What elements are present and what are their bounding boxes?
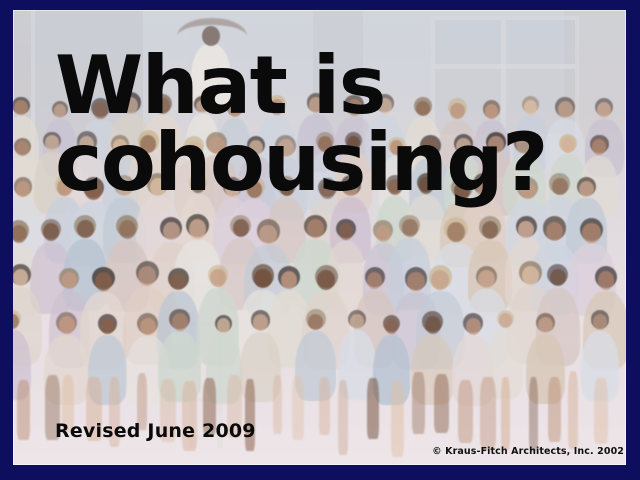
crowd-person-head — [254, 269, 271, 288]
crowd-person-head — [550, 269, 566, 287]
crowd-person-head — [209, 137, 225, 155]
crowd-person-head — [119, 220, 136, 239]
crowd-person-head — [278, 139, 294, 157]
crowd-person-legs — [501, 377, 510, 450]
crowd-person-head — [582, 223, 600, 243]
crowd-person-head — [339, 223, 354, 239]
crowd-person-head — [425, 316, 441, 334]
crowd-person-legs — [412, 372, 425, 434]
person-on-ladder-head — [202, 26, 220, 46]
crowd-person-head — [593, 314, 607, 330]
crowd-person-head — [13, 225, 27, 243]
crowd-person-head — [388, 179, 402, 195]
crowd-person-head — [156, 98, 171, 114]
crowd-person-head — [150, 178, 166, 196]
crowd-person-head — [45, 135, 59, 150]
crowd-person-head — [466, 318, 481, 335]
crowd-person-head — [385, 319, 399, 334]
title-photograph — [13, 10, 626, 465]
crowd-person-head — [347, 99, 362, 116]
crowd-person-legs — [548, 377, 561, 441]
crowd-person-legs — [319, 377, 329, 435]
crowd-person-head — [318, 136, 332, 152]
crowd-person-head — [270, 99, 284, 115]
crowd-person-head — [253, 314, 268, 331]
crowd-person-head — [456, 138, 470, 154]
crowd-person-legs — [338, 380, 349, 455]
crowd-person-head — [450, 103, 465, 119]
crowd-person-head — [376, 225, 391, 242]
crowd-person-head — [597, 102, 611, 118]
crowd-person-head — [558, 101, 573, 118]
copyright-credit: © Kraus-Fitch Architects, Inc. 2002 — [432, 446, 624, 457]
crowd-person-head — [561, 137, 575, 152]
crowd-person-head — [416, 101, 430, 116]
presentation-slide: What is cohousing? Revised June 2009 © K… — [0, 0, 640, 480]
crowd-person-head — [478, 270, 494, 288]
crowd-person-legs — [17, 380, 29, 440]
crowd-person-head — [57, 179, 72, 196]
crowd-person-head — [520, 182, 536, 200]
crowd-person-legs — [568, 371, 578, 448]
crowd-person-head — [378, 98, 392, 114]
crowd-person-head — [320, 182, 335, 199]
crowd-person-legs — [434, 374, 450, 433]
crowd-person-head — [598, 271, 615, 290]
crowd-person-head — [454, 182, 470, 200]
crowd-person-head — [14, 100, 28, 115]
crowd-person-legs — [458, 380, 473, 443]
crowd-person-head — [93, 102, 108, 119]
crowd-person-head — [225, 181, 240, 197]
crowd-person-head — [191, 177, 205, 192]
crowd-person-legs — [480, 377, 496, 451]
crowd-person-head — [367, 272, 382, 289]
crowd-person-head — [488, 136, 503, 153]
crowd-person-head — [485, 104, 499, 119]
crowd-person-legs — [273, 375, 282, 434]
crowd-person-head — [317, 270, 335, 290]
crowd-person-head — [189, 219, 207, 239]
revision-date-note: Revised June 2009 — [55, 420, 256, 442]
crowd-person-head — [402, 219, 418, 236]
crowd-person-head — [77, 220, 94, 239]
crowd-person-head — [100, 318, 114, 334]
crowd-person-head — [210, 269, 226, 286]
crowd-person-head — [538, 317, 552, 333]
crowd-person-legs — [391, 381, 404, 457]
crowd-person-head — [187, 141, 202, 158]
crowd-person-head — [113, 139, 126, 154]
crowd-person-head — [95, 272, 112, 291]
crowd-person-head — [117, 179, 132, 196]
crowd-person-head — [172, 313, 188, 331]
crowd-person-head — [552, 178, 568, 195]
crowd-person-head — [482, 221, 498, 239]
crowd-person-head — [476, 178, 492, 196]
crowd-person-head — [229, 104, 241, 118]
crowd-person-head — [499, 313, 512, 328]
crowd-person-legs — [292, 376, 304, 439]
crowd-person-head — [163, 222, 180, 240]
crowd-person-legs — [367, 378, 379, 440]
crowd-person-head — [524, 100, 537, 114]
crowd-person-legs — [529, 377, 538, 451]
crowd-person-head — [280, 180, 295, 196]
crowd-person-head — [54, 104, 66, 118]
crowd-person-head — [43, 223, 59, 241]
crowd-person-head — [407, 272, 424, 291]
crowd-person-head — [140, 318, 156, 336]
window-mullion-vertical — [501, 20, 506, 134]
crowd-person-legs — [594, 378, 607, 445]
crowd-person-head — [85, 181, 102, 199]
crowd-person-head — [419, 177, 434, 193]
crowd-person-head — [138, 266, 156, 286]
